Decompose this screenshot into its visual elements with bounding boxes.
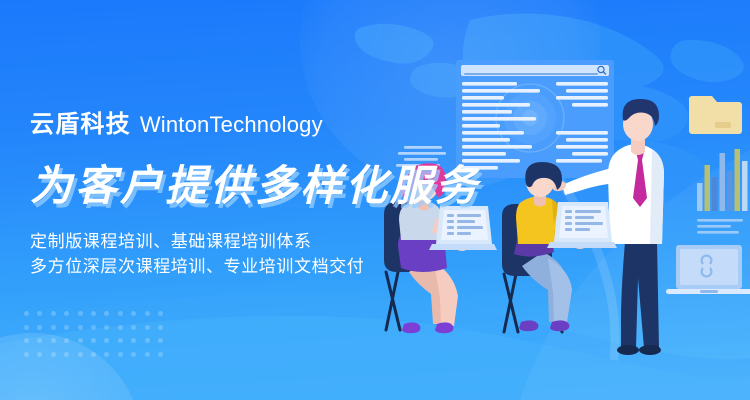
seated-man-with-laptop xyxy=(502,162,617,332)
folder-icon xyxy=(689,96,742,134)
brand-lockup: 云盾科技 WintonTechnology xyxy=(30,104,480,139)
subtitle-line-1: 定制版课程培训、基础课程培训体系 xyxy=(30,229,480,254)
brand-name-cn: 云盾科技 xyxy=(30,104,131,139)
bar-chart-icon xyxy=(697,149,748,234)
headline: 为客户提供多样化服务 xyxy=(30,152,480,213)
promo-banner: 云盾科技 WintonTechnology 为客户提供多样化服务 定制版课程培训… xyxy=(0,0,750,400)
subtitle-line-2: 多方位深层次课程培训、专业培训文档交付 xyxy=(30,254,480,279)
text-block: 云盾科技 WintonTechnology 为客户提供多样化服务 定制版课程培训… xyxy=(30,104,480,279)
brand-name-en: WintonTechnology xyxy=(140,112,323,138)
subtitle: 定制版课程培训、基础课程培训体系 多方位深层次课程培训、专业培训文档交付 xyxy=(30,229,480,279)
monitor-icon xyxy=(666,245,750,294)
